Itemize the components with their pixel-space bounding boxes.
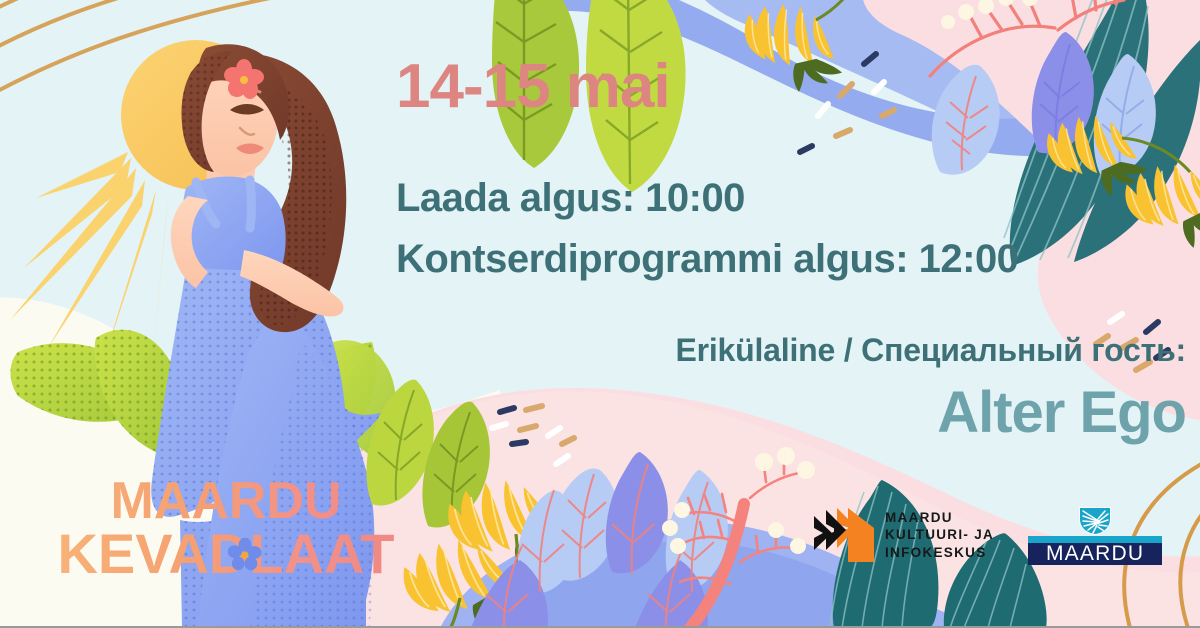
concert-start-time: Kontserdiprogrammi algus: 12:00 xyxy=(396,237,1186,282)
poster-canvas: 14-15 mai Laada algus: 10:00 Kontserdipr… xyxy=(0,0,1200,628)
special-guest-label: Erikülaline / Специальный гость: xyxy=(396,332,1186,369)
logo-maardu-kultuurikeskus[interactable]: MAARDU KULTUURI- JA INFOKESKUS xyxy=(812,506,994,564)
chevrons-house-icon xyxy=(812,506,876,564)
festival-wordmark: MAARDU KEVADLAAT xyxy=(50,478,402,579)
event-date: 14-15 mai xyxy=(396,56,1186,118)
event-text-block: 14-15 mai Laada algus: 10:00 Kontserdipr… xyxy=(396,56,1186,446)
logo-maardu-city[interactable]: MAARDU xyxy=(1028,505,1162,565)
logo-city-label: MAARDU xyxy=(1046,543,1144,564)
logo-kultuurikeskus-text: MAARDU KULTUURI- JA INFOKESKUS xyxy=(885,509,994,561)
logo-city-bar: MAARDU xyxy=(1028,536,1162,565)
wordmark-line-1: MAARDU xyxy=(50,478,402,526)
wordmark-line-2: KEVADLAAT xyxy=(50,528,402,580)
nautilus-shell-icon xyxy=(1077,505,1113,536)
special-guest-name: Alter Ego xyxy=(396,379,1186,446)
forget-me-not-flower-icon xyxy=(228,538,262,572)
market-start-time: Laada algus: 10:00 xyxy=(396,176,1186,221)
sponsor-logo-row: MAARDU KULTUURI- JA INFOKESKUS MAARDU xyxy=(812,505,1162,565)
